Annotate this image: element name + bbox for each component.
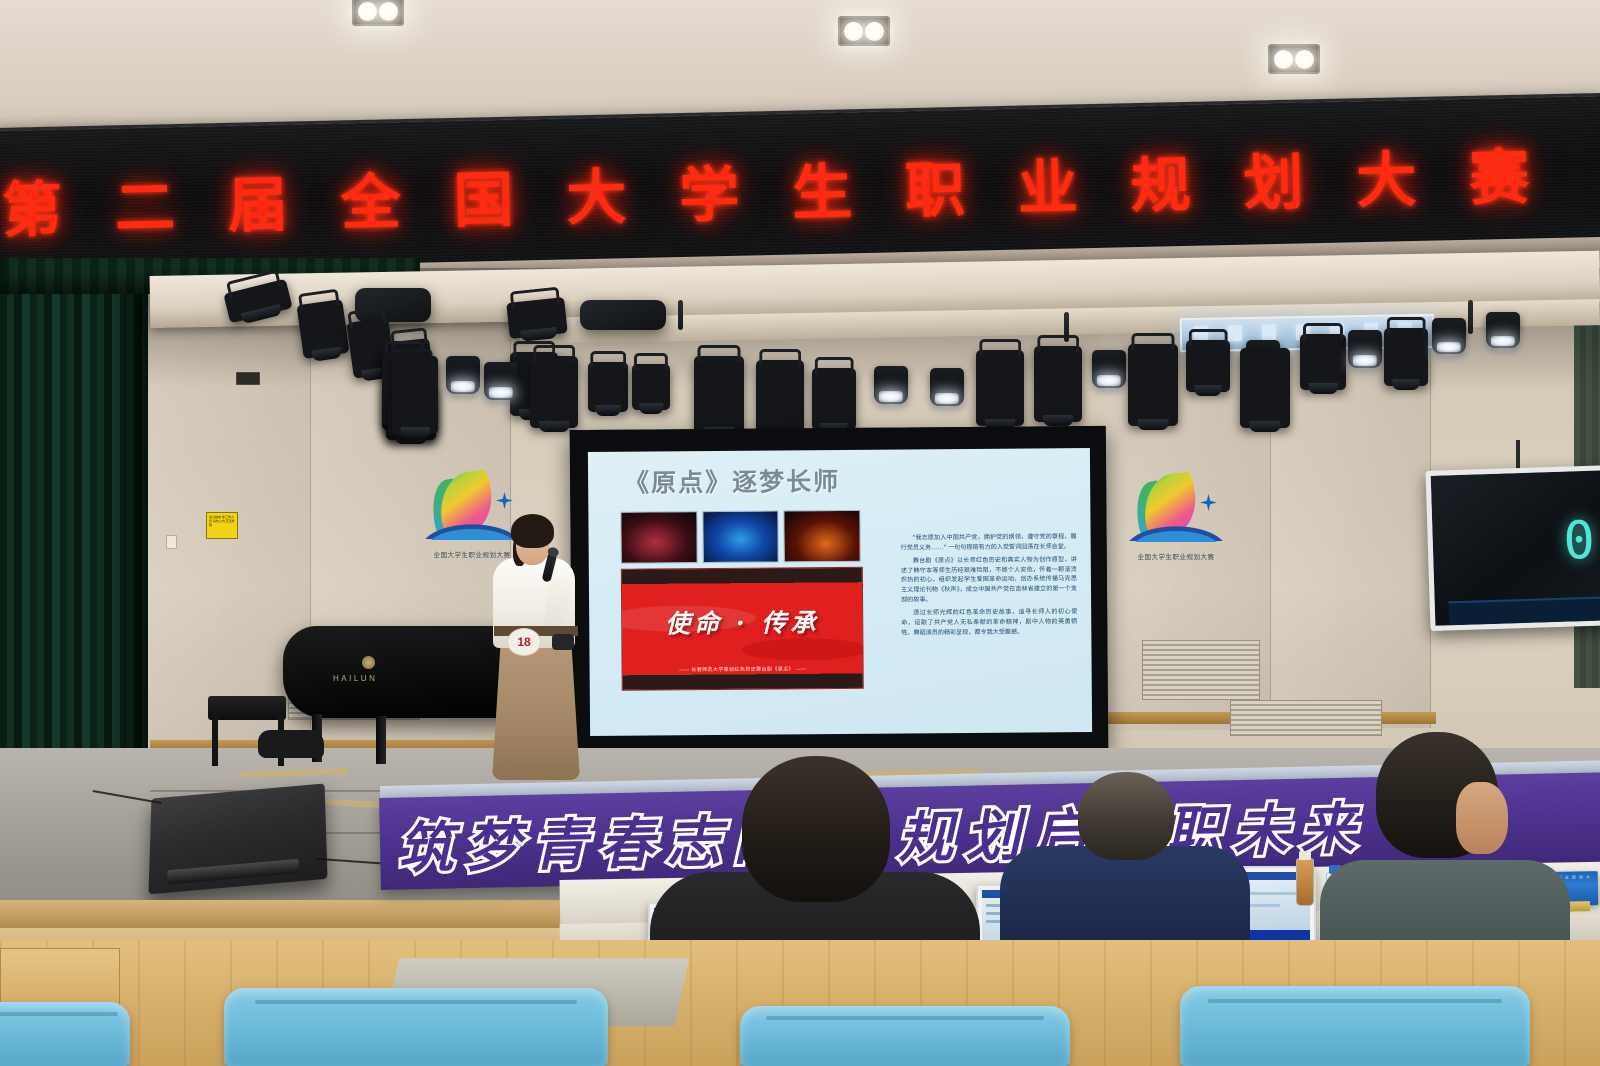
par-can-light: [446, 356, 480, 394]
par-can-light: [874, 366, 908, 404]
light-glow: [935, 393, 959, 404]
light-yoke: [1132, 333, 1175, 350]
hanging-microphone: [678, 300, 683, 330]
slide-thumbnail: [620, 511, 697, 564]
timer-monitor: 0: [1426, 465, 1600, 631]
slide-thumbnail-row: [620, 510, 860, 564]
par-can-light: [930, 368, 964, 406]
electrical-warning-sign: 当心触电 非工作人员 请勿入内 高压危险: [206, 512, 238, 539]
audience-seat[interactable]: [0, 1002, 130, 1066]
timer-digit: 0: [1563, 511, 1596, 572]
light-lens: [1309, 383, 1338, 394]
moving-head-light: [756, 360, 804, 438]
light-lens: [1138, 419, 1169, 430]
monitor-bottom-bar: [1449, 596, 1600, 625]
light-glow: [489, 387, 513, 398]
moving-head-light: [1300, 334, 1346, 390]
moving-head-light: [694, 356, 744, 434]
logo-star-icon: [1200, 494, 1217, 511]
moving-head-light: [530, 356, 578, 428]
ceiling-projector: [580, 300, 666, 330]
air-vent: [1142, 640, 1260, 700]
downlight-bulb: [358, 2, 377, 21]
logo-wave-inner: [1132, 518, 1220, 542]
logo-caption: 全国大学生职业规划大赛: [424, 549, 520, 559]
judge-head: [1078, 772, 1174, 860]
light-lens: [639, 403, 663, 414]
downlight-bulb: [1295, 50, 1314, 69]
moving-head-light: [296, 299, 349, 359]
moving-head-light: [1186, 340, 1230, 392]
audience-seat[interactable]: [1180, 986, 1530, 1066]
light-glow: [879, 391, 903, 402]
slide-title: 《原点》逐梦长师: [624, 462, 840, 500]
light-yoke: [510, 287, 560, 309]
moving-head-light: [812, 368, 856, 430]
light-yoke: [759, 349, 801, 366]
light-yoke: [815, 357, 854, 374]
moving-head-light: [632, 364, 670, 410]
beverage-bottle: [1296, 858, 1314, 906]
light-lens: [401, 427, 430, 438]
auditorium-stage-photo: 第 二 届 全 国 大 学 生 职 业 规 划 大 赛 （ 校 赛 当心触电 非…: [0, 0, 1600, 1066]
audience-seat[interactable]: [224, 988, 608, 1066]
piano-bench: [208, 696, 286, 720]
light-switch[interactable]: [166, 535, 177, 549]
ceiling-downlight: [838, 16, 890, 46]
moving-head-light: [1128, 344, 1178, 426]
competition-logo-right: 全国大学生职业规划大赛: [1128, 472, 1224, 561]
light-glow: [1437, 342, 1461, 352]
presenter-skirt: [492, 640, 580, 780]
downlight-bulb: [865, 22, 884, 41]
projection-screen: 《原点》逐梦长师 使命 · 传承 —— 长春师范大学原创红色校史舞台剧《原点》 …: [570, 426, 1109, 756]
light-glow: [451, 381, 475, 392]
ceiling-downlight: [1268, 44, 1320, 74]
moving-head-light: [1240, 348, 1290, 428]
light-yoke: [1037, 335, 1079, 352]
downlight-bulb: [379, 2, 398, 21]
moving-head-light: [506, 297, 567, 339]
piano-medallion: [362, 656, 375, 669]
audience-seat[interactable]: [740, 1006, 1070, 1066]
par-can-light: [1486, 312, 1520, 348]
sail-star-logo-icon: [424, 470, 520, 548]
presentation-clicker: [552, 634, 574, 650]
piano-leg: [376, 716, 386, 764]
stage-monitor-speaker: [149, 783, 328, 894]
competition-logo-left: 全国大学生职业规划大赛: [424, 470, 520, 559]
light-yoke: [533, 345, 575, 362]
light-glow: [1353, 355, 1377, 366]
sail-star-logo-icon: [1128, 472, 1224, 550]
batten-cell: [1262, 325, 1276, 341]
piano-brand-label: HAILUN: [333, 674, 377, 683]
par-can-light: [1092, 350, 1126, 388]
slide-body-text: "我志愿加入中国共产党，拥护党的纲领，遵守党的章程，履行党员义务……" 一句句铿…: [901, 532, 1078, 641]
light-yoke: [1189, 329, 1228, 346]
light-lens: [1250, 421, 1281, 432]
logo-wave-inner: [428, 516, 516, 540]
poster-subtitle: —— 长春师范大学原创红色校史舞台剧《原点》 ——: [679, 665, 807, 673]
downlight-bulb: [844, 22, 863, 41]
audience-head: [742, 756, 890, 902]
moving-head-light: [588, 362, 628, 412]
hanging-microphone: [1468, 300, 1473, 334]
light-lens: [1392, 379, 1419, 390]
wall-sign-plate: [236, 372, 260, 385]
slide-poster-image: 使命 · 传承 —— 长春师范大学原创红色校史舞台剧《原点》 ——: [621, 567, 864, 691]
judge-face: [1456, 782, 1508, 854]
led-banner-text: 第 二 届 全 国 大 学 生 职 业 规 划 大 赛 （ 校 赛: [1, 121, 1600, 249]
light-yoke: [634, 353, 668, 370]
slide-paragraph: 舞台剧《原点》以长师红色历史和真实人物为创作原型，讲述了韩守本等师生历经艰难险阻…: [901, 555, 1077, 606]
light-yoke: [698, 345, 741, 362]
slide-paragraph: "我志愿加入中国共产党，拥护党的纲领，遵守党的章程，履行党员义务……" 一句句铿…: [901, 532, 1077, 553]
par-can-light: [1348, 330, 1382, 368]
light-yoke: [347, 307, 386, 329]
light-lens: [596, 405, 621, 416]
light-yoke: [1387, 317, 1426, 334]
presenter-hair: [511, 514, 554, 548]
slide-thumbnail: [702, 510, 779, 563]
moving-head-light: [392, 356, 438, 434]
air-vent: [1230, 700, 1382, 736]
piano-bench-leg: [212, 716, 218, 766]
ceiling-downlight: [352, 0, 404, 26]
logo-caption: 全国大学生职业规划大赛: [1128, 551, 1224, 561]
poster-calligraphy-title: 使命 · 传承: [665, 603, 819, 640]
logo-star-icon: [496, 492, 513, 509]
light-glow: [1491, 336, 1515, 346]
batten-cell: [1228, 325, 1242, 341]
moving-head-light: [1034, 346, 1082, 422]
light-yoke: [590, 351, 626, 368]
contestant-number-badge: 18: [507, 628, 541, 656]
stage-equipment-bag: [258, 730, 324, 758]
slide-thumbnail: [784, 510, 861, 563]
downlight-bulb: [1274, 50, 1293, 69]
moving-head-light: [1384, 328, 1428, 386]
grand-piano: HAILUN: [283, 626, 513, 718]
light-lens: [1043, 415, 1073, 426]
moving-head-light: [976, 350, 1024, 426]
slide-paragraph: 透过长师光辉的红色革命历史故事，追寻长师人的初心使命，讴歌了共产党人无私奉献的革…: [901, 607, 1077, 638]
hanging-microphone: [1064, 312, 1069, 342]
par-can-light: [484, 362, 518, 400]
bottle-cap: [1299, 851, 1311, 860]
light-lens: [539, 421, 569, 432]
presentation-slide: 《原点》逐梦长师 使命 · 传承 —— 长春师范大学原创红色校史舞台剧《原点》 …: [588, 448, 1092, 736]
light-glow: [1097, 375, 1121, 386]
par-can-light: [1432, 318, 1466, 354]
light-lens: [1194, 385, 1221, 396]
light-yoke: [979, 339, 1021, 356]
slide-media-column: 使命 · 传承 —— 长春师范大学原创红色校史舞台剧《原点》 ——: [620, 510, 861, 691]
light-yoke: [1303, 323, 1343, 340]
